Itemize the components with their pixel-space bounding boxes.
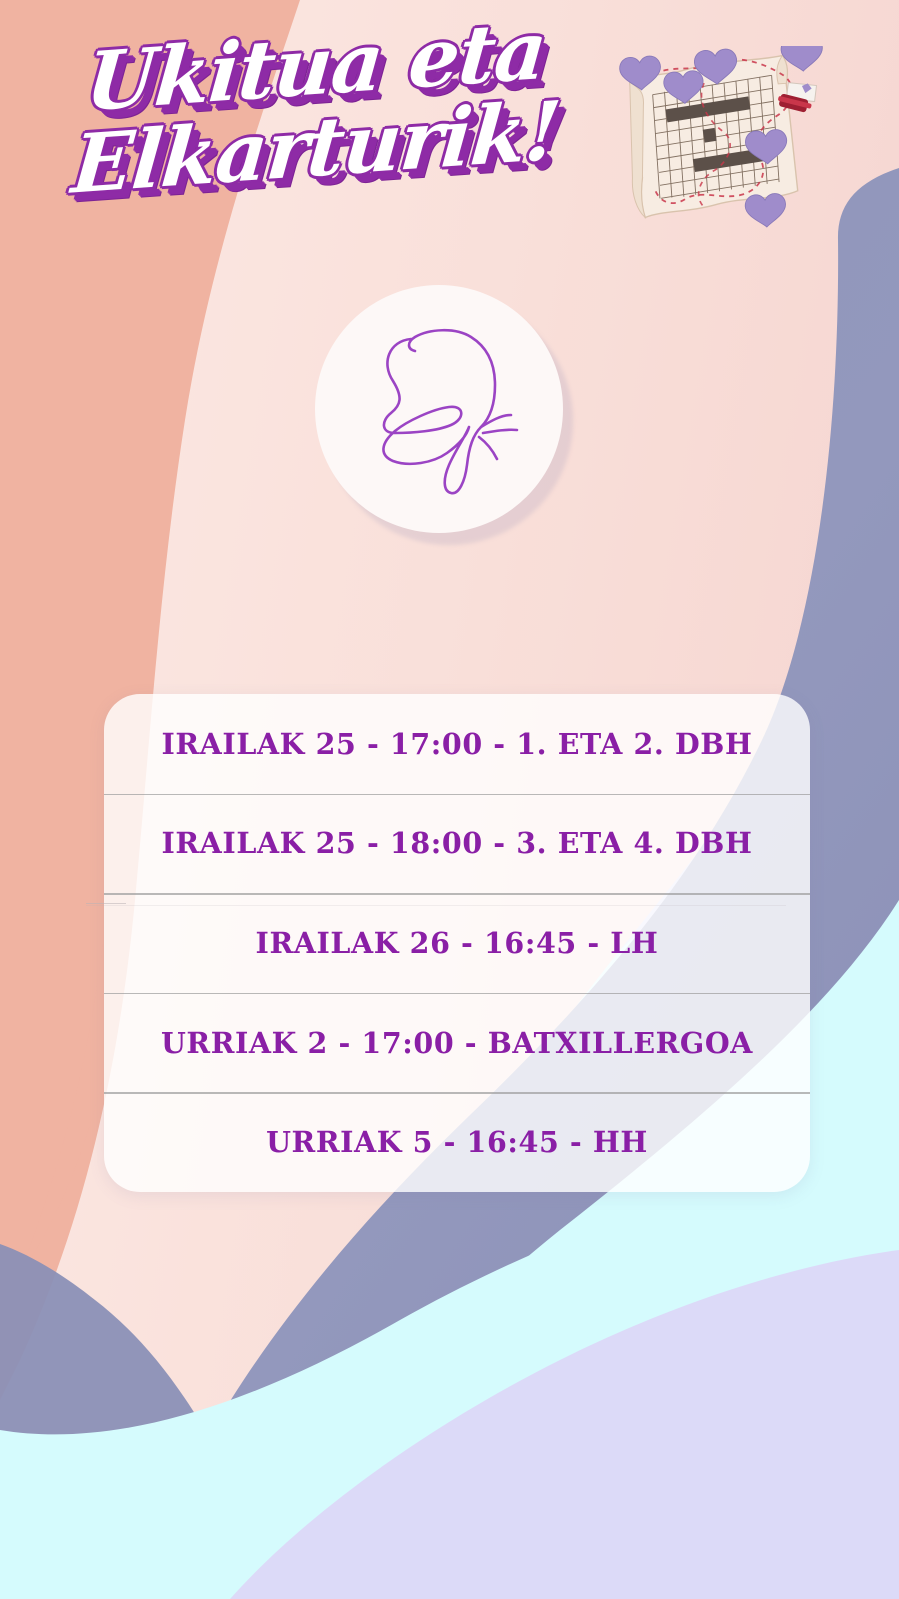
- stray-rule-left-2: [86, 905, 786, 906]
- schedule-row-text: URRIAK 5 - 16:45 - HH: [266, 1125, 648, 1159]
- schedule-row-text: IRAILAK 26 - 16:45 - LH: [256, 926, 659, 960]
- butterfly-badge: [315, 285, 563, 533]
- crossword-hearts-icon: [612, 46, 830, 234]
- butterfly-line-icon: [315, 285, 563, 533]
- schedule-row-3[interactable]: IRAILAK 26 - 16:45 - LH: [104, 893, 810, 993]
- schedule-row-1[interactable]: IRAILAK 25 - 17:00 - 1. ETA 2. DBH: [104, 694, 810, 794]
- schedule-card: IRAILAK 25 - 17:00 - 1. ETA 2. DBH IRAIL…: [104, 694, 810, 1192]
- schedule-row-text: IRAILAK 25 - 18:00 - 3. ETA 4. DBH: [161, 826, 752, 860]
- poster-canvas: Ukitua eta Elkarturik!: [0, 0, 899, 1599]
- schedule-row-2[interactable]: IRAILAK 25 - 18:00 - 3. ETA 4. DBH: [104, 794, 810, 894]
- schedule-row-text: URRIAK 2 - 17:00 - BATXILLERGOA: [161, 1026, 753, 1060]
- schedule-row-5[interactable]: URRIAK 5 - 16:45 - HH: [104, 1092, 810, 1192]
- schedule-row-text: IRAILAK 25 - 17:00 - 1. ETA 2. DBH: [161, 727, 752, 761]
- schedule-row-4[interactable]: URRIAK 2 - 17:00 - BATXILLERGOA: [104, 993, 810, 1093]
